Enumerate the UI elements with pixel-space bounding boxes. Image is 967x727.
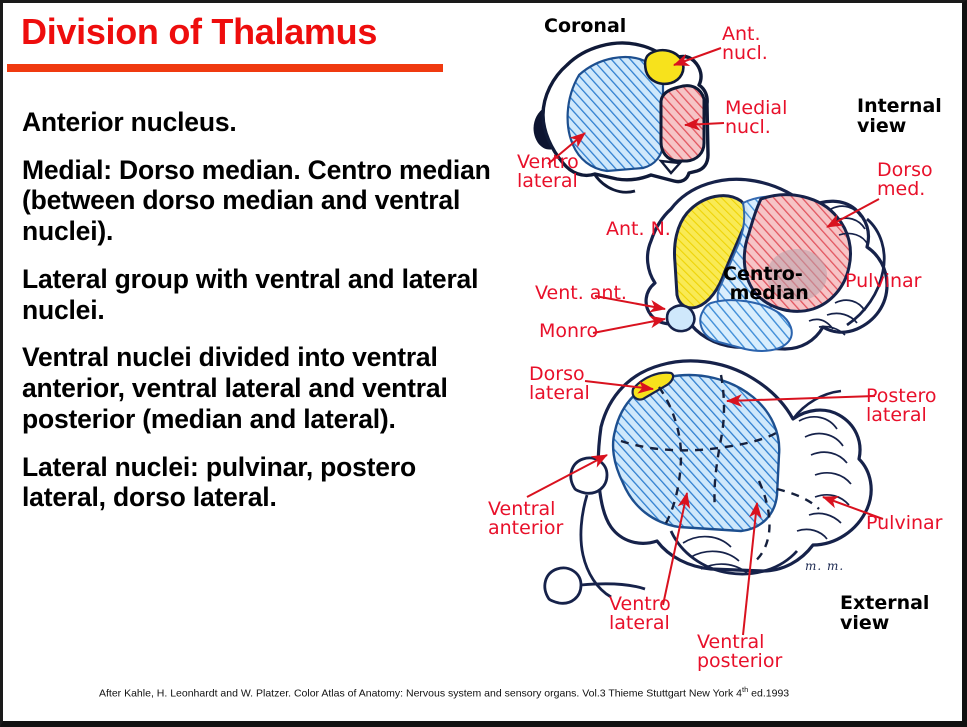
slide-canvas: Division of Thalamus Anterior nucleus. M…: [0, 0, 967, 727]
list-item: Ventral nuclei divided into ventral ante…: [22, 342, 494, 434]
callout-dorso-med: Dorso med.: [877, 161, 933, 200]
view-label-internal: Internal view: [857, 97, 942, 137]
view-label-coronal: Coronal: [544, 17, 626, 37]
thalamus-illustration: Coronal Internal view External view Cent…: [475, 3, 965, 703]
title-underline-rule: [7, 64, 443, 72]
callout-medial-nucl: Medial nucl.: [725, 99, 787, 138]
callout-ventro-lateral-top: Ventro lateral: [517, 153, 579, 192]
callout-pulvinar-mid: Pulvinar: [845, 272, 921, 291]
callout-pulvinar-bottom: Pulvinar: [866, 514, 942, 533]
callout-ant-nucl: Ant. nucl.: [722, 25, 768, 64]
view-label-external: External view: [840, 594, 929, 634]
callout-vent-ant: Vent. ant.: [535, 284, 627, 303]
bullet-list: Anterior nucleus. Medial: Dorso median. …: [22, 107, 494, 530]
list-item: Anterior nucleus.: [22, 107, 494, 138]
callout-centro-median: Centro- median: [723, 265, 809, 304]
callout-dorso-lateral: Dorso lateral: [529, 365, 590, 404]
page-title: Division of Thalamus: [21, 11, 377, 53]
list-item: Lateral group with ventral and lateral n…: [22, 264, 494, 325]
callout-ventral-anterior: Ventral anterior: [488, 500, 563, 539]
artist-signature: m. m.: [805, 559, 844, 573]
list-item: Medial: Dorso median. Centro median (bet…: [22, 155, 494, 247]
callout-monro: Monro: [539, 322, 598, 341]
callout-ventral-posterior: Ventral posterior: [697, 633, 782, 672]
list-item: Lateral nuclei: pulvinar, postero latera…: [22, 452, 494, 513]
callout-ant-n: Ant. N.: [606, 220, 671, 239]
callout-postero-lateral: Postero lateral: [866, 387, 936, 426]
callout-ventro-lateral-bottom: Ventro lateral: [609, 595, 671, 634]
